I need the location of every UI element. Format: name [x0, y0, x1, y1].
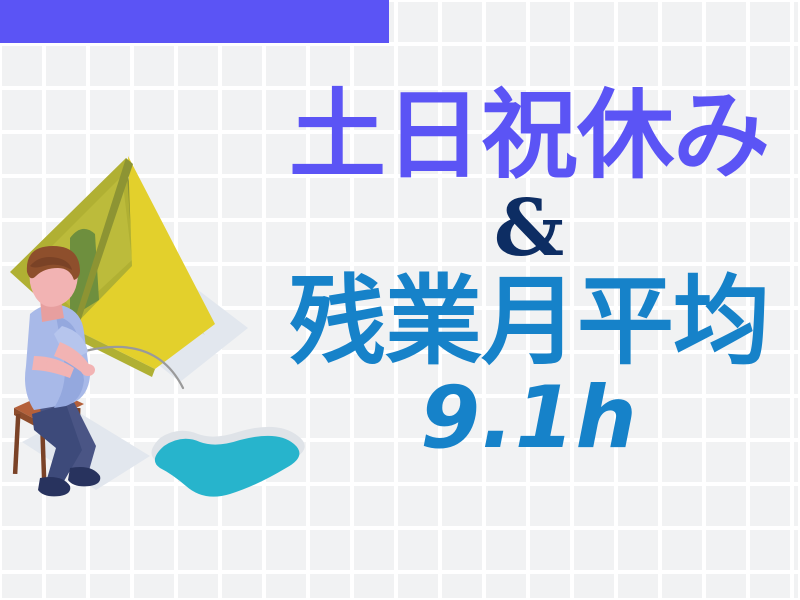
fisherman-shoe-front: [38, 477, 70, 496]
purple-accent-bar: [0, 0, 389, 43]
headline-connector: &: [258, 189, 800, 269]
headline-value: 9.1h: [258, 375, 800, 461]
fisherman-hand-upper: [81, 364, 95, 376]
poster-canvas: 土日祝休み & 残業月平均 9.1h: [0, 0, 800, 600]
stool-leg-front-left: [13, 414, 21, 474]
fisherman-hand-lower: [45, 360, 59, 372]
headline-line-1: 土日祝休み: [258, 86, 800, 187]
headline-block: 土日祝休み & 残業月平均 9.1h: [258, 86, 800, 461]
headline-line-2: 残業月平均: [258, 272, 800, 373]
